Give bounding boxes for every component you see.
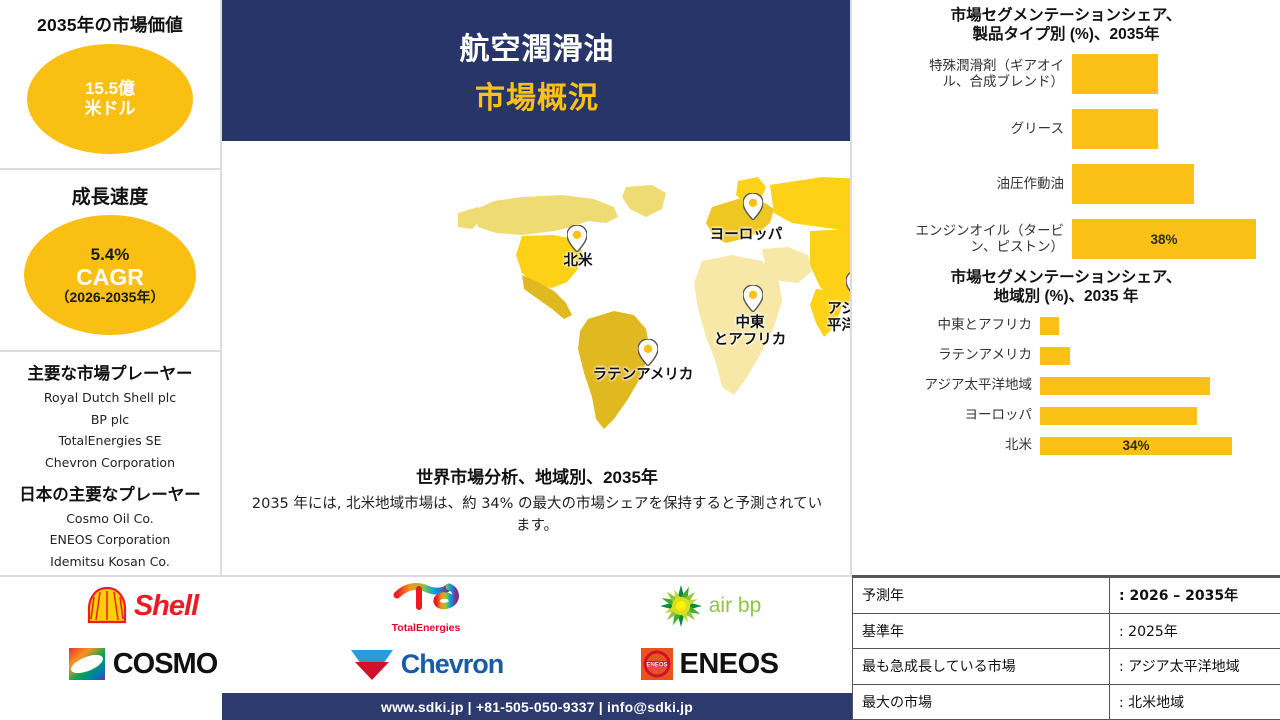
chart-region-title-line1: 市場セグメンテーションシェア、: [866, 269, 1266, 288]
totalenergies-mark-icon: [389, 579, 463, 615]
chart-bar-label: 特殊潤滑剤（ギアオイ ル、合成ブレンド）: [852, 58, 1072, 91]
summary-info-table: 予測年 : 2026 – 2035年 基準年 : 2025年 最も急成長している…: [852, 575, 1280, 720]
map-pin-north-america: [567, 225, 587, 252]
chart-bar-label: ヨーロッパ: [852, 407, 1040, 423]
chart-region: 市場セグメンテーションシェア、 地域別 (%)、2035 年 中東とアフリカ ラ…: [852, 267, 1280, 461]
map-label-europe: ヨーロッパ: [688, 227, 804, 244]
key-players-card: 主要な市場プレーヤー Royal Dutch Shell plc BP plc …: [0, 352, 220, 575]
chart-bar: 38%: [1072, 219, 1256, 259]
chart-product-type-title-line1: 市場セグメンテーションシェア、: [866, 7, 1266, 26]
table-row: 基準年 : 2025年: [853, 613, 1280, 649]
key-player-item: TotalEnergies SE: [0, 430, 220, 452]
chart-bar-row: 北米 34%: [852, 431, 1280, 461]
chart-bar-row: 特殊潤滑剤（ギアオイ ル、合成ブレンド）: [852, 47, 1280, 102]
page-subtitle: 市場概況: [475, 73, 599, 117]
chart-bar-label: 北米: [852, 437, 1040, 453]
region-greenland: [622, 185, 666, 217]
chart-bar-row: 油圧作動油: [852, 157, 1280, 212]
region-asia-north: [770, 177, 852, 233]
logo-airbp: air bp: [659, 584, 762, 628]
footer-contact-bar: www.sdki.jp | +81-505-050-9337 | info@sd…: [222, 693, 852, 720]
cagr-label: CAGR: [76, 265, 144, 289]
map-description: 2035 年には, 北米地域市場は、約 34% の最大の市場シェアを保持すると予…: [250, 493, 824, 538]
japan-player-item: ENEOS Corporation: [0, 529, 220, 551]
table-cell-key: 最大の市場: [853, 684, 1110, 720]
table-cell-key: 最も急成長している市場: [853, 649, 1110, 685]
market-value-card: 2035年の市場価値 15.5億 米ドル: [0, 0, 220, 170]
chart-region-title-line2: 地域別 (%)、2035 年: [866, 288, 1266, 307]
table-cell-value: : 2025年: [1110, 613, 1280, 649]
logo-eneos: ENEOS ENEOS: [641, 648, 778, 681]
shell-wordmark: Shell: [134, 590, 198, 623]
cosmo-wordmark: COSMO: [113, 648, 218, 681]
chart-bar: [1040, 317, 1059, 335]
map-pin-europe: [743, 193, 763, 220]
chart-bar-label: グリース: [852, 121, 1072, 137]
chart-bar-row: 中東とアフリカ: [852, 311, 1280, 341]
map-label-latin-america: ラテンアメリカ: [570, 367, 716, 384]
chart-bar-row: ヨーロッパ: [852, 401, 1280, 431]
chart-bar: [1040, 347, 1070, 365]
footer-left-spacer: [0, 693, 222, 720]
key-players-title: 主要な市場プレーヤー: [0, 360, 220, 384]
growth-rate-ellipse: 5.4% CAGR （2026-2035年）: [24, 215, 196, 335]
chart-bar: [1040, 377, 1210, 395]
region-canada: [472, 195, 618, 235]
totalenergies-wordmark: TotalEnergies: [392, 622, 461, 634]
growth-rate-title: 成長速度: [0, 170, 220, 209]
map-pin-middle-east-africa: [743, 285, 763, 312]
chart-bar-label: 油圧作動油: [852, 176, 1072, 192]
chart-bar-row: アジア太平洋地域: [852, 371, 1280, 401]
key-player-item: BP plc: [0, 409, 220, 431]
market-value-ellipse: 15.5億 米ドル: [27, 44, 193, 154]
chart-product-type-title-line2: 製品タイプ別 (%)、2035年: [866, 26, 1266, 45]
map-label-north-america: 北米: [540, 253, 616, 270]
infographic-page: 2035年の市場価値 15.5億 米ドル 成長速度 5.4% CAGR （202…: [0, 0, 1280, 720]
page-title: 航空潤滑油: [460, 24, 615, 68]
airbp-wordmark: air bp: [709, 594, 762, 618]
chart-bar-row: ラテンアメリカ: [852, 341, 1280, 371]
chart-product-type: 市場セグメンテーションシェア、 製品タイプ別 (%)、2035年 特殊潤滑剤（ギ…: [852, 0, 1280, 267]
chart-bar: [1040, 407, 1197, 425]
map-label-asia-pacific: アジア太 平洋地域: [808, 301, 852, 335]
cagr-percent: 5.4%: [91, 245, 130, 265]
table-cell-value: : アジア太平洋地域: [1110, 649, 1280, 685]
chevron-wordmark: Chevron: [401, 649, 504, 680]
chart-product-type-title: 市場セグメンテーションシェア、 製品タイプ別 (%)、2035年: [852, 0, 1280, 47]
table-row: 最も急成長している市場 : アジア太平洋地域: [853, 649, 1280, 685]
growth-rate-card: 成長速度 5.4% CAGR （2026-2035年）: [0, 170, 220, 352]
chart-bar: [1072, 54, 1158, 94]
chart-bar-label: 中東とアフリカ: [852, 317, 1040, 333]
svg-text:ENEOS: ENEOS: [647, 663, 668, 669]
chart-bar-label: ラテンアメリカ: [852, 347, 1040, 363]
japan-player-item: Idemitsu Kosan Co.: [0, 551, 220, 573]
logo-chevron: Chevron: [349, 644, 504, 684]
table-row: 最大の市場 : 北米地域: [853, 684, 1280, 720]
market-value-line1: 15.5億: [85, 79, 135, 99]
shell-pecten-icon: [86, 586, 128, 626]
market-value-title: 2035年の市場価値: [0, 0, 220, 37]
map-label-middle-east-africa: 中東 とアフリカ: [696, 315, 804, 349]
map-pin-latin-america: [638, 339, 658, 366]
japan-players-title: 日本の主要なプレーヤー: [0, 481, 220, 505]
table-cell-value: : 北米地域: [1110, 684, 1280, 720]
cagr-years: （2026-2035年）: [56, 289, 165, 305]
right-charts-column: 市場セグメンテーションシェア、 製品タイプ別 (%)、2035年 特殊潤滑剤（ギ…: [852, 0, 1280, 575]
chart-bar-label: エンジンオイル（タービ ン、ピストン）: [852, 223, 1072, 256]
map-caption: 世界市場分析、地域別、2035年: [222, 463, 852, 488]
table-cell-key: 基準年: [853, 613, 1110, 649]
chart-bar-row: グリース: [852, 102, 1280, 157]
logo-totalenergies: TotalEnergies: [389, 579, 463, 634]
chart-bar-value: 34%: [1122, 438, 1149, 453]
logo-cosmo: COSMO: [67, 644, 218, 684]
market-value-line2: 米ドル: [85, 99, 136, 119]
chart-bar-value: 38%: [1150, 232, 1177, 247]
eneos-mark-icon: ENEOS: [641, 648, 673, 680]
table-cell-key: 予測年: [853, 578, 1110, 614]
chart-bar: 34%: [1040, 437, 1232, 455]
cosmo-mark-icon: [67, 644, 107, 684]
footer-contact-text: www.sdki.jp | +81-505-050-9337 | info@sd…: [381, 699, 693, 715]
table-cell-value: : 2026 – 2035年: [1110, 578, 1280, 614]
chart-bar: [1072, 109, 1158, 149]
table-row: 予測年 : 2026 – 2035年: [853, 578, 1280, 614]
bp-helios-icon: [659, 584, 703, 628]
chart-bar: [1072, 164, 1194, 204]
logo-shell: Shell: [86, 586, 198, 626]
left-stats-column: 2035年の市場価値 15.5億 米ドル 成長速度 5.4% CAGR （202…: [0, 0, 222, 575]
page-header-banner: 航空潤滑油 市場概況: [222, 0, 852, 141]
world-map-panel: 北米 ヨーロッパ アジア太 平洋地域 中東 とアフリカ ラテンアメリカ 世界市場…: [222, 141, 852, 575]
world-map: 北米 ヨーロッパ アジア太 平洋地域 中東 とアフリカ ラテンアメリカ: [222, 151, 852, 451]
chevron-mark-icon: [349, 644, 395, 684]
key-player-item: Chevron Corporation: [0, 452, 220, 474]
chart-region-title: 市場セグメンテーションシェア、 地域別 (%)、2035 年: [852, 267, 1280, 311]
eneos-wordmark: ENEOS: [679, 648, 778, 681]
company-logos-panel: Shell TotalEnergies: [0, 575, 852, 693]
chart-bar-label: アジア太平洋地域: [852, 377, 1040, 393]
chart-bar-row: エンジンオイル（タービ ン、ピストン） 38%: [852, 212, 1280, 267]
key-player-item: Royal Dutch Shell plc: [0, 387, 220, 409]
japan-player-item: Cosmo Oil Co.: [0, 508, 220, 530]
